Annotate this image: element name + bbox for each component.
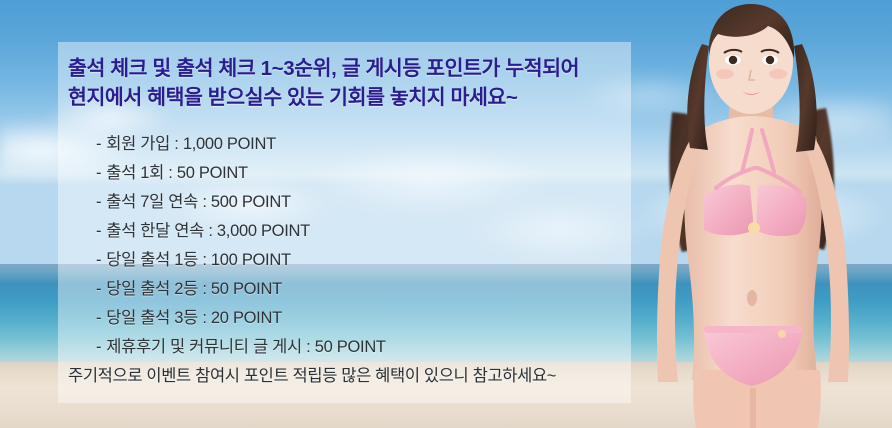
list-item: -당일 출석 2등 : 50 POINT [96,275,386,304]
point-reward-list: -회원 가입 : 1,000 POINT -출석 1회 : 50 POINT -… [96,130,386,362]
list-bullet: - [96,135,101,153]
list-item: -당일 출석 3등 : 20 POINT [96,304,386,333]
list-bullet: - [96,164,101,182]
list-bullet: - [96,309,101,327]
list-bullet: - [96,280,101,298]
page-title: 출석 체크 및 출석 체크 1~3순위, 글 게시등 포인트가 누적되어 현지에… [68,54,628,112]
list-item-label: 당일 출석 3등 : 20 POINT [106,309,282,327]
list-bullet: - [96,193,101,211]
promo-banner: 출석 체크 및 출석 체크 1~3순위, 글 게시등 포인트가 누적되어 현지에… [0,0,892,428]
headline-line-1: 출석 체크 및 출석 체크 1~3순위, 글 게시등 포인트가 누적되어 [68,57,579,80]
list-item-label: 출석 한달 연속 : 3,000 POINT [106,222,310,240]
list-item-label: 당일 출석 1등 : 100 POINT [106,251,291,269]
list-bullet: - [96,251,101,269]
list-item-label: 회원 가입 : 1,000 POINT [106,135,276,153]
list-item: -출석 한달 연속 : 3,000 POINT [96,217,386,246]
list-bullet: - [96,222,101,240]
list-item: -제휴후기 및 커뮤니티 글 게시 : 50 POINT [96,333,386,362]
list-item: -출석 1회 : 50 POINT [96,159,386,188]
list-item-label: 출석 1회 : 50 POINT [106,164,248,182]
footnote-text: 주기적으로 이벤트 참여시 포인트 적립등 많은 혜택이 있으니 참고하세요~ [68,362,556,386]
list-item: -출석 7일 연속 : 500 POINT [96,188,386,217]
list-item-label: 출석 7일 연속 : 500 POINT [106,193,291,211]
list-item-label: 제휴후기 및 커뮤니티 글 게시 : 50 POINT [106,338,386,356]
list-bullet: - [96,338,101,356]
model-photo [612,0,892,428]
list-item: -회원 가입 : 1,000 POINT [96,130,386,159]
list-item-label: 당일 출석 2등 : 50 POINT [106,280,282,298]
headline-line-2: 현지에서 혜택을 받으실수 있는 기회를 놓치지 마세요~ [68,83,628,112]
list-item: -당일 출석 1등 : 100 POINT [96,246,386,275]
